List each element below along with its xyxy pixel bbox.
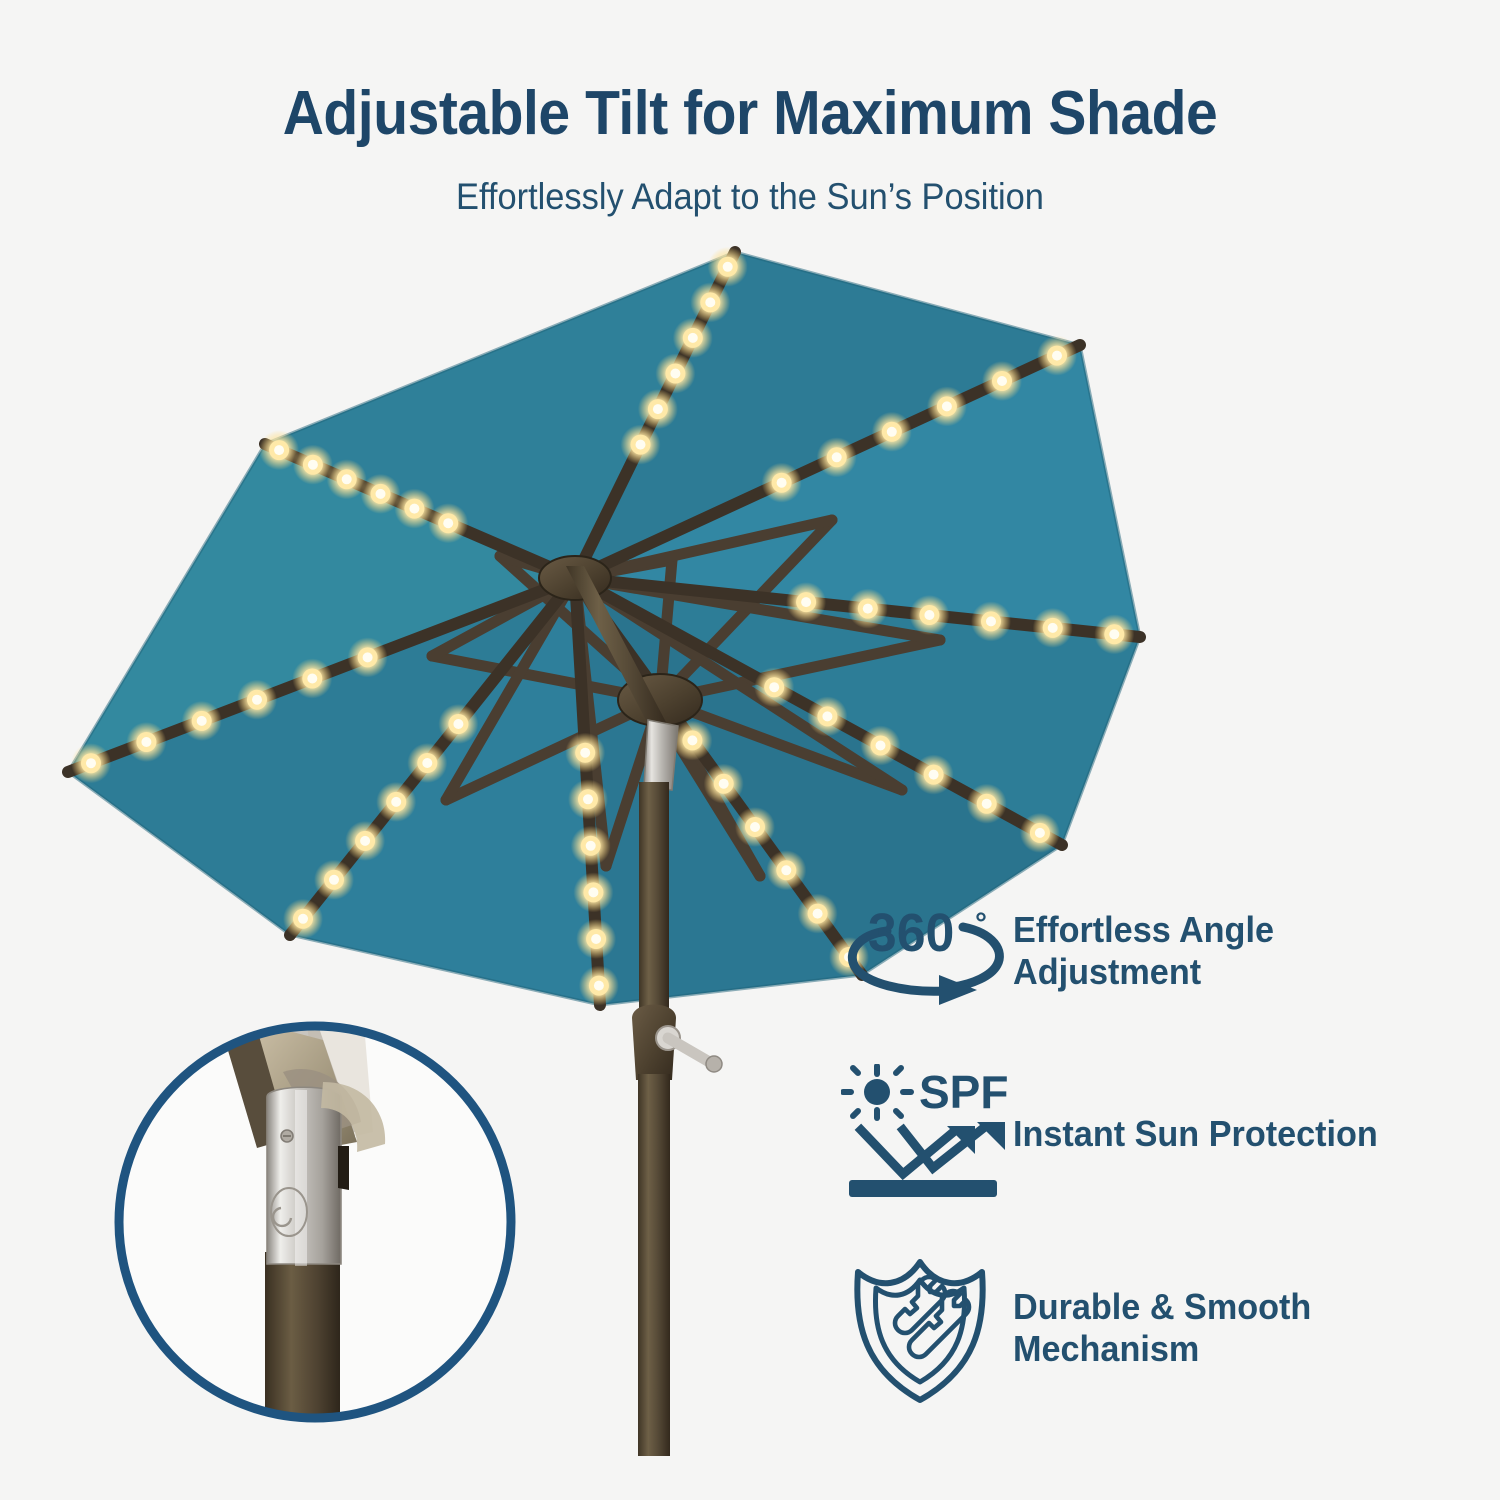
infographic-canvas: Adjustable Tilt for Maximum Shade Effort… bbox=[0, 0, 1500, 1500]
shield-wrench-durability-icon bbox=[838, 1248, 1013, 1408]
feature-item-durable-mechanism: Durable & Smooth Mechanism bbox=[838, 1248, 1478, 1408]
feature-item-angle-adjustment: 360 ° Effortless Angle Adjustment bbox=[838, 886, 1478, 1016]
spf-icon-text: SPF bbox=[919, 1066, 1008, 1118]
feature-item-sun-protection: SPF Instant Sun Protection bbox=[838, 1064, 1478, 1204]
spf-sun-protection-icon: SPF bbox=[838, 1064, 1013, 1204]
feature-label-durable-mechanism: Durable & Smooth Mechanism bbox=[1013, 1286, 1311, 1371]
feature-list: 360 ° Effortless Angle Adjustment bbox=[838, 886, 1478, 1452]
360-degree-rotation-icon: 360 ° bbox=[838, 897, 1013, 1005]
feature-label-sun-protection: Instant Sun Protection bbox=[1013, 1113, 1378, 1155]
360-icon-text: 360 bbox=[867, 903, 953, 963]
tilt-mechanism-inset bbox=[105, 1012, 525, 1432]
feature-label-angle-adjustment: Effortless Angle Adjustment bbox=[1013, 909, 1274, 994]
degree-symbol: ° bbox=[975, 907, 987, 940]
